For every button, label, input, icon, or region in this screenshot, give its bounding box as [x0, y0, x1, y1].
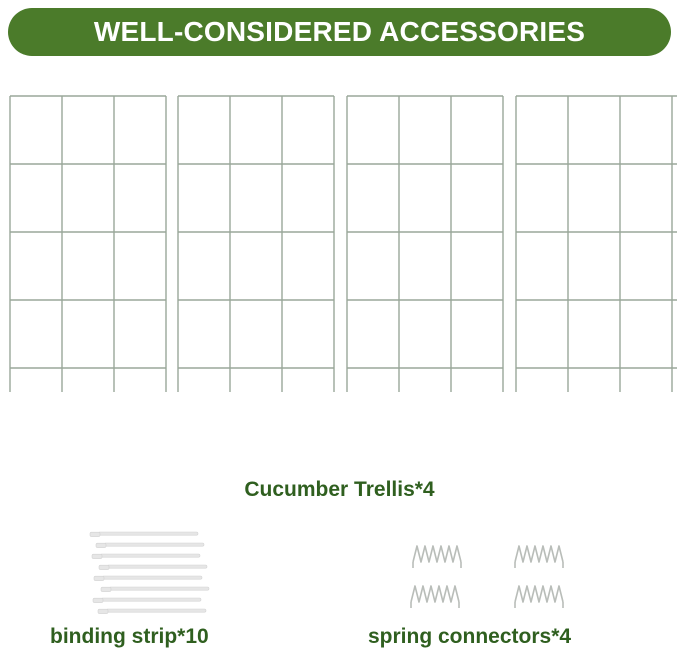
trellis-label: Cucumber Trellis*4	[0, 478, 679, 502]
spring-connectors-image	[405, 540, 585, 620]
trellis-panels-group	[0, 92, 679, 452]
trellis-panel	[8, 92, 168, 412]
spring-connectors-label: spring connectors*4	[368, 625, 571, 649]
header-banner: WELL-CONSIDERED ACCESSORIES	[8, 8, 671, 56]
trellis-panel	[345, 92, 505, 412]
binding-strip-label: binding strip*10	[50, 625, 209, 649]
page-title: WELL-CONSIDERED ACCESSORIES	[94, 16, 585, 48]
trellis-panel	[176, 92, 336, 412]
binding-strips-image	[80, 528, 270, 618]
trellis-panel	[514, 92, 679, 412]
